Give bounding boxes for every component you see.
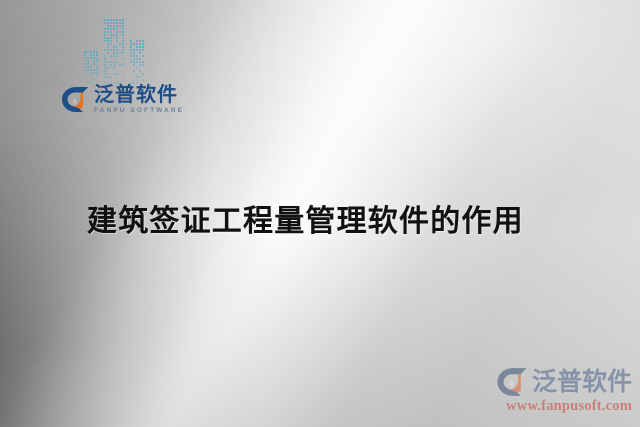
header-company-name-en: FANPU SOFTWARE xyxy=(94,108,184,115)
skyline-center-tower xyxy=(104,19,126,85)
skyline-right-tower xyxy=(130,40,146,85)
watermark-logo-row: 泛普软件 xyxy=(470,367,632,397)
fanpu-swoosh-logo-icon xyxy=(496,367,529,397)
slide-canvas: 泛普软件 FANPU SOFTWARE 建筑签证工程量管理软件的作用 泛普软件 … xyxy=(0,0,640,427)
header-logo-text: 泛普软件 FANPU SOFTWARE xyxy=(94,85,184,115)
header-company-name-cn: 泛普软件 xyxy=(94,85,184,105)
fanpu-swoosh-logo-icon xyxy=(61,86,90,113)
header-logo: 泛普软件 FANPU SOFTWARE xyxy=(61,85,184,115)
page-title: 建筑签证工程量管理软件的作用 xyxy=(87,196,524,240)
pixel-skyline-icon xyxy=(84,19,146,85)
skyline-left-tower xyxy=(84,51,100,85)
watermark: 泛普软件 www.fanpusoft.com xyxy=(470,367,632,415)
watermark-company-name-cn: 泛普软件 xyxy=(532,370,632,395)
watermark-url: www.fanpusoft.com xyxy=(470,398,632,415)
